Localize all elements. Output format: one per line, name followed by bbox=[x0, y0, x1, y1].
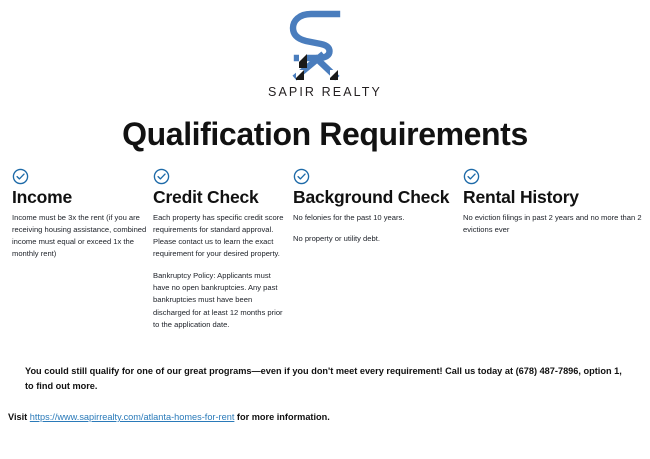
requirement-heading: Rental History bbox=[463, 188, 645, 208]
requirement-paragraph: No eviction filings in past 2 years and … bbox=[463, 212, 645, 237]
requirement-heading: Income bbox=[12, 188, 148, 208]
requirement-column-credit-check: Credit Check Each property has specific … bbox=[153, 168, 286, 331]
check-circle-icon bbox=[463, 168, 480, 185]
requirement-column-rental-history: Rental History No eviction filings in pa… bbox=[463, 168, 645, 236]
check-circle-icon bbox=[12, 168, 29, 185]
visit-suffix: for more information. bbox=[234, 412, 329, 422]
requirement-paragraph: No property or utility debt. bbox=[293, 233, 461, 245]
requirement-column-income: Income Income must be 3x the rent (if yo… bbox=[12, 168, 148, 261]
requirement-column-background-check: Background Check No felonies for the pas… bbox=[293, 168, 461, 245]
check-circle-icon bbox=[293, 168, 310, 185]
sapir-realty-sr-monogram-house-logo bbox=[277, 10, 373, 82]
requirement-heading: Background Check bbox=[293, 188, 461, 208]
requirement-heading: Credit Check bbox=[153, 188, 286, 208]
requirement-paragraph: Each property has specific credit score … bbox=[153, 212, 286, 261]
website-link[interactable]: https://www.sapirrealty.com/atlanta-home… bbox=[30, 412, 235, 422]
brand-logo-block: SAPIR REALTY bbox=[0, 0, 650, 99]
requirement-paragraph: Income must be 3x the rent (if you are r… bbox=[12, 212, 148, 261]
check-circle-icon bbox=[153, 168, 170, 185]
brand-wordmark: SAPIR REALTY bbox=[268, 85, 382, 99]
call-to-action-text: You could still qualify for one of our g… bbox=[25, 364, 625, 394]
visit-line: Visit https://www.sapirrealty.com/atlant… bbox=[8, 412, 628, 422]
visit-prefix: Visit bbox=[8, 412, 30, 422]
requirement-paragraph: No felonies for the past 10 years. bbox=[293, 212, 461, 224]
page-title: Qualification Requirements bbox=[0, 116, 650, 153]
requirement-paragraph: Bankruptcy Policy: Applicants must have … bbox=[153, 270, 286, 331]
